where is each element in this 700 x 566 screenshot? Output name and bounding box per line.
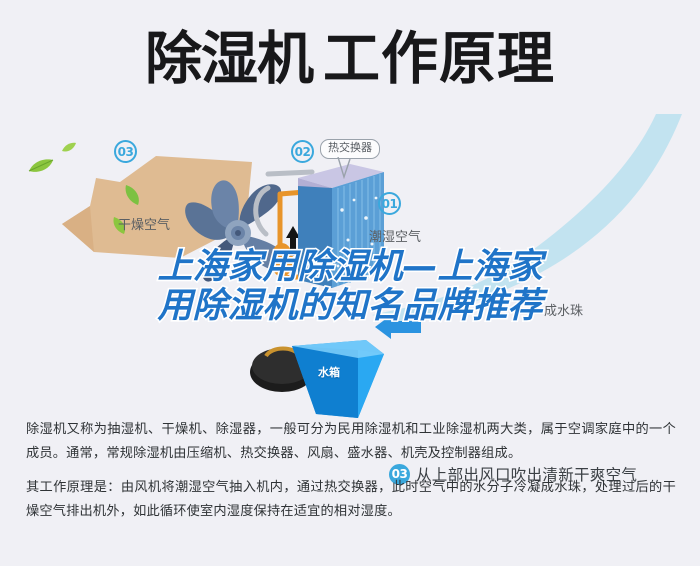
- label-water-tank: 水箱: [318, 364, 340, 380]
- badge-step-01: 01: [378, 192, 401, 215]
- page-title-band: 除湿机工作原理: [0, 0, 700, 118]
- page-title-part2: 工作原理: [323, 26, 555, 92]
- leaf-icon: [28, 158, 54, 174]
- leaf-icon: [62, 142, 77, 153]
- air-inlet-arrow-icon: [375, 315, 421, 339]
- body-copy: 除湿机又称为抽湿机、干燥机、除湿器，一般可分为民用除湿机和工业除湿机两大类，属于…: [26, 418, 676, 525]
- label-condensation: 成水珠: [544, 300, 583, 319]
- body-paragraph-1: 除湿机又称为抽湿机、干燥机、除湿器，一般可分为民用除湿机和工业除湿机两大类，属于…: [26, 418, 676, 467]
- dehumidifier-diagram: 01 潮湿空气 02 热交换器 03 干燥空气 水箱 成水珠 03 从上部出风口…: [0, 118, 700, 408]
- page-title: 除湿机工作原理: [145, 31, 555, 88]
- label-humid-air: 潮湿空气: [369, 226, 421, 245]
- callout-heat-exchanger: 热交换器: [320, 139, 380, 159]
- label-dry-air: 干燥空气: [118, 214, 170, 233]
- page-title-part1: 除湿机: [145, 26, 313, 92]
- callout-pointer-icon: [336, 157, 352, 179]
- badge-step-03: 03: [114, 140, 137, 163]
- infographic-page: 除湿机工作原理: [0, 0, 700, 566]
- badge-step-02: 02: [291, 140, 314, 163]
- body-paragraph-2: 其工作原理是：由风机将潮湿空气抽入机内，通过热交换器，此时空气中的水分子冷凝成水…: [26, 476, 676, 525]
- leaf-icon: [124, 184, 141, 206]
- water-tank-graphic: [288, 340, 388, 422]
